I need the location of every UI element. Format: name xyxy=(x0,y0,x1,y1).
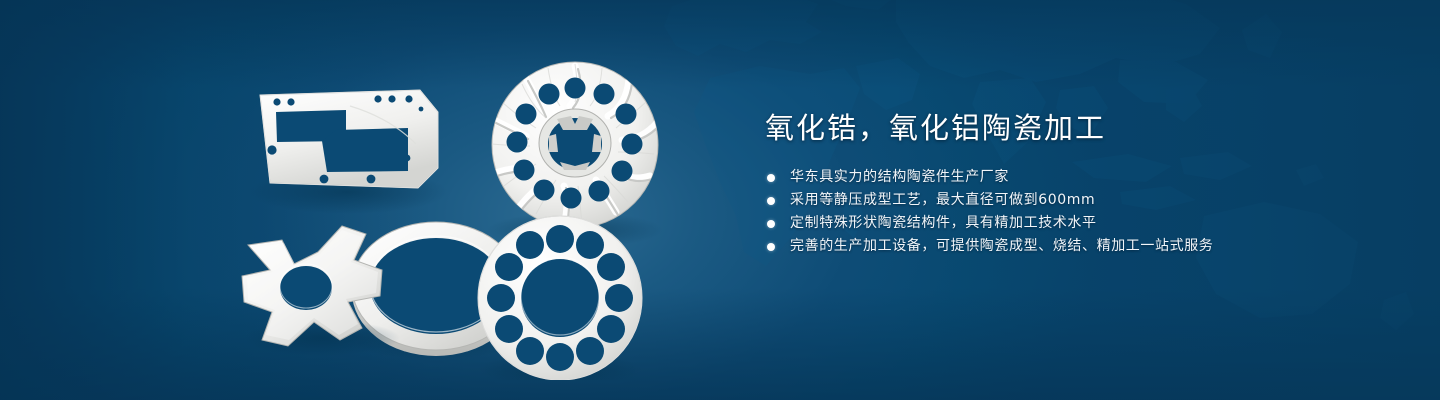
feature-list: 华东具实力的结构陶瓷件生产厂家 采用等静压成型工艺，最大直径可做到600mm 定… xyxy=(765,166,1325,258)
list-item-label: 华东具实力的结构陶瓷件生产厂家 xyxy=(790,166,1009,189)
list-item-label: 完善的生产加工设备，可提供陶瓷成型、烧结、精加工一站式服务 xyxy=(790,235,1213,258)
ceramic-machined-plate xyxy=(248,90,448,214)
hero-banner: 氧化锆，氧化铝陶瓷加工 华东具实力的结构陶瓷件生产厂家 采用等静压成型工艺，最大… xyxy=(0,0,1440,400)
list-item: 定制特殊形状陶瓷结构件，具有精加工技术水平 xyxy=(765,212,1325,235)
ceramic-perforated-disc xyxy=(478,216,642,380)
list-item: 华东具实力的结构陶瓷件生产厂家 xyxy=(765,166,1325,189)
bullet-marker-icon xyxy=(767,220,775,228)
list-item: 完善的生产加工设备，可提供陶瓷成型、烧结、精加工一站式服务 xyxy=(765,235,1325,258)
bullet-marker-icon xyxy=(767,174,775,182)
bullet-marker-icon xyxy=(767,197,775,205)
banner-text-block: 氧化锆，氧化铝陶瓷加工 华东具实力的结构陶瓷件生产厂家 采用等静压成型工艺，最大… xyxy=(765,108,1325,258)
product-photo-cluster xyxy=(230,40,720,380)
bullet-marker-icon xyxy=(767,243,775,251)
list-item: 采用等静压成型工艺，最大直径可做到600mm xyxy=(765,189,1325,212)
list-item-label: 定制特殊形状陶瓷结构件，具有精加工技术水平 xyxy=(790,212,1097,235)
list-item-label: 采用等静压成型工艺，最大直径可做到600mm xyxy=(790,189,1095,212)
page-title: 氧化锆，氧化铝陶瓷加工 xyxy=(765,108,1325,148)
